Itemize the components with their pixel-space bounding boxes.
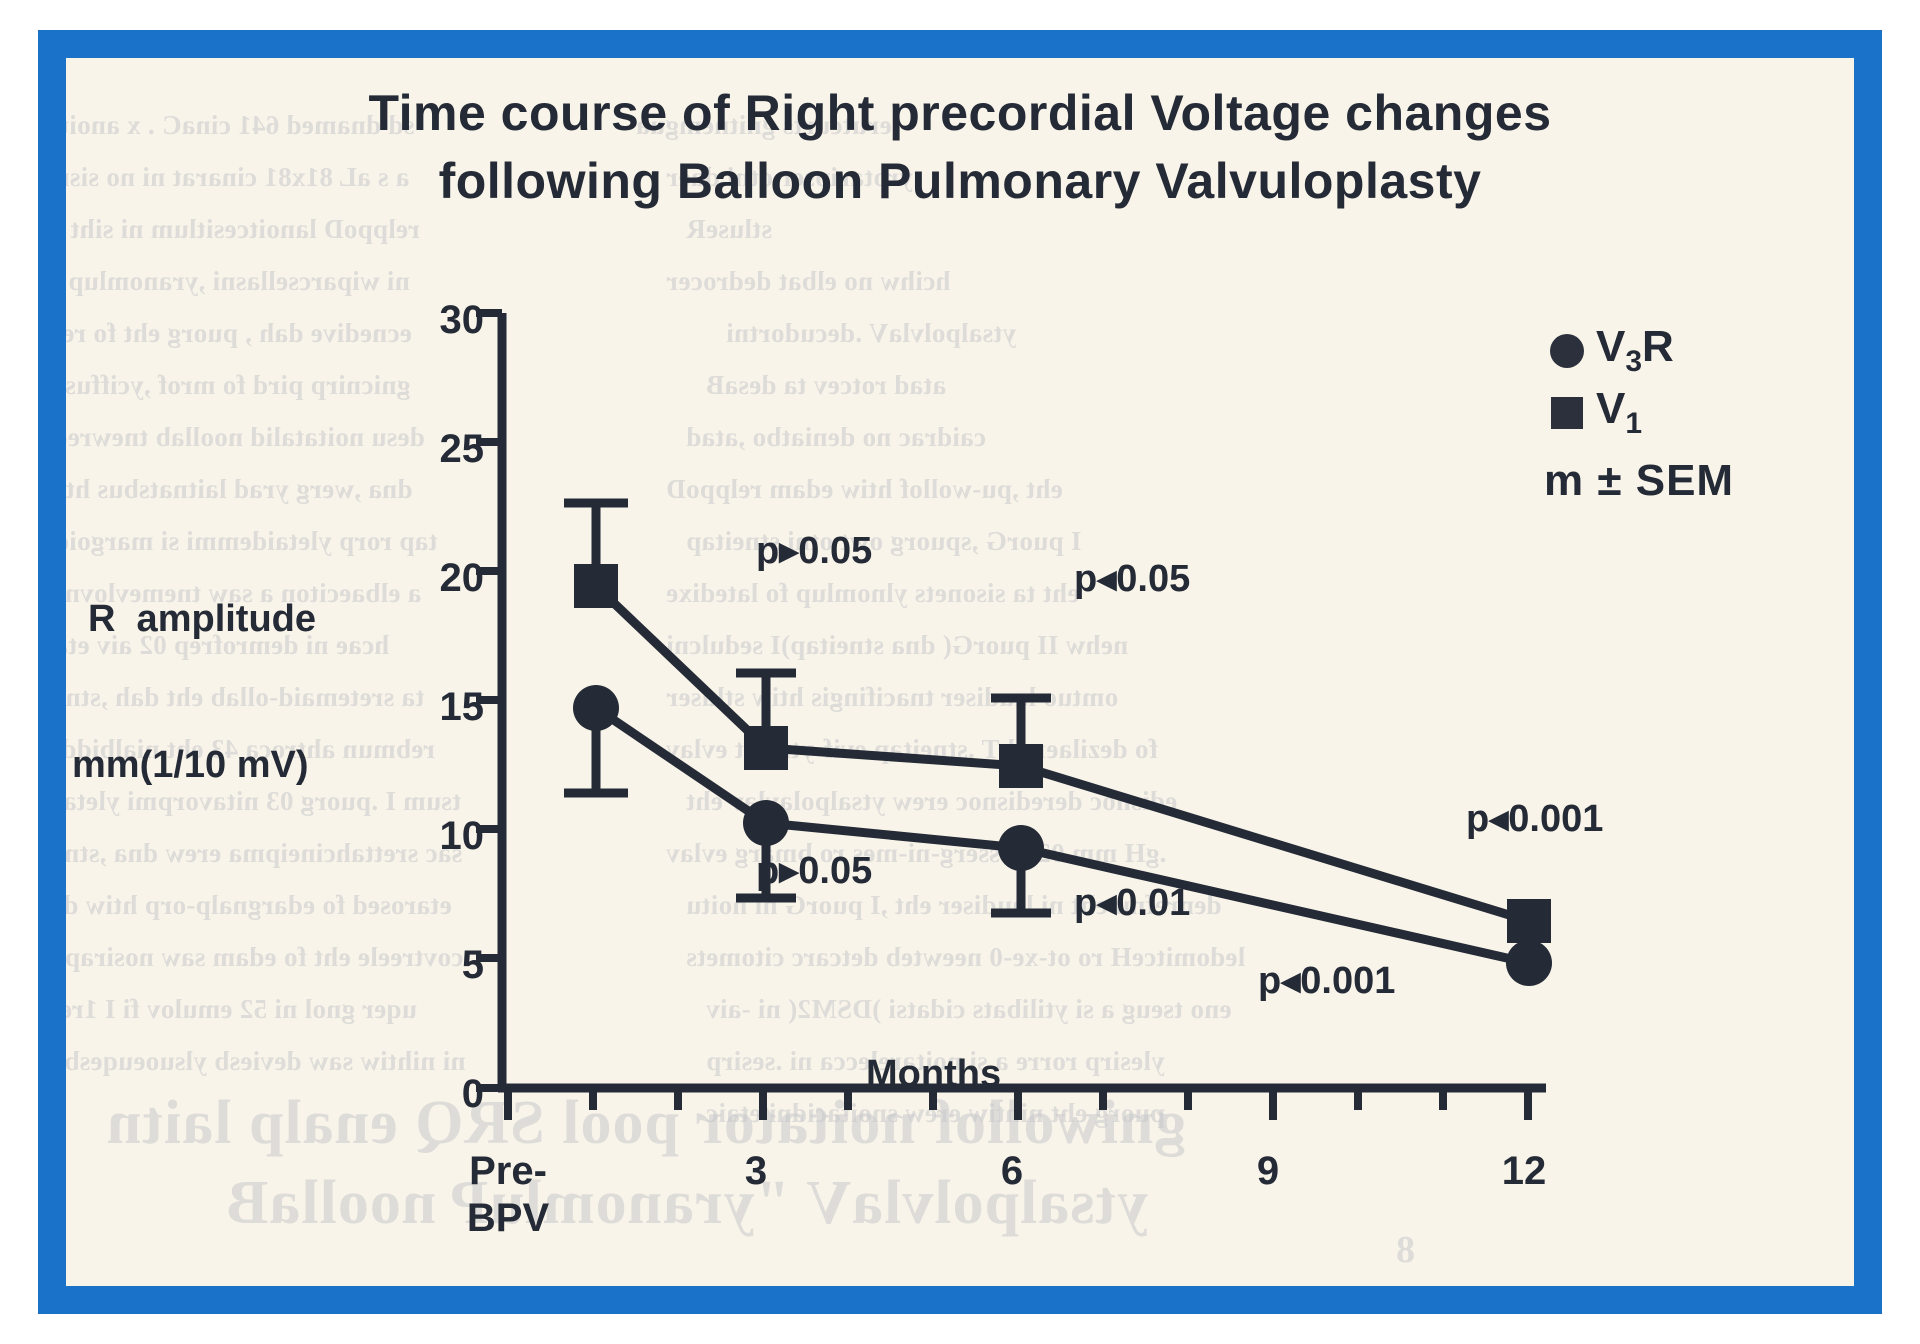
figure-paper: sd dnamed 641 cinaC . x anoita a s aL 81…	[66, 58, 1854, 1286]
v1-error-bars	[564, 503, 1051, 766]
chart-svg	[66, 58, 1854, 1286]
figure-frame: sd dnamed 641 cinaC . x anoita a s aL 81…	[0, 0, 1920, 1344]
x-ticks	[508, 1088, 1528, 1120]
v1-data-line	[596, 586, 1529, 921]
v3r-data-line	[596, 708, 1529, 963]
chart-plot-area: Time course of Right precordial Voltage …	[66, 58, 1854, 1286]
v3r-markers	[573, 685, 1552, 986]
